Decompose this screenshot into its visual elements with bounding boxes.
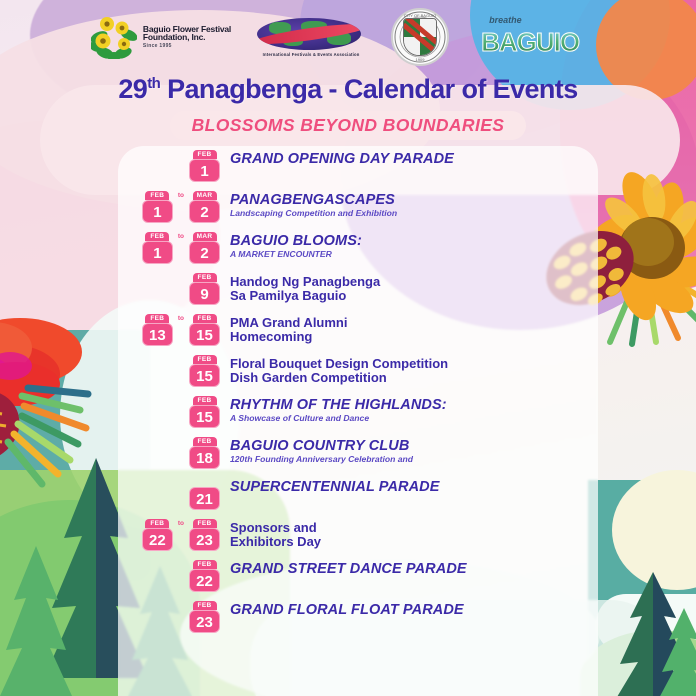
date-badge-day: 15: [189, 323, 220, 346]
event-row: FEB1toMAR2BAGUIO BLOOMS:A MARKET ENCOUNT…: [118, 232, 596, 266]
date-range-connector: to: [178, 233, 184, 240]
date-badge-day: 9: [189, 282, 220, 305]
date-badge-single: FEB15: [189, 396, 220, 428]
event-subtitle: 120th Founding Anniversary Celebration a…: [230, 455, 596, 465]
date-badge-month: FEB: [193, 560, 217, 569]
event-title: RHYTHM OF THE HIGHLANDS:: [230, 398, 596, 413]
date-badge-single: FEB22: [189, 560, 220, 592]
event-subtitle: A Showcase of Culture and Dance: [230, 414, 596, 424]
date-badge-start: FEB1: [142, 232, 173, 264]
date-badge-end: FEB15: [189, 314, 220, 346]
event-text: GRAND OPENING DAY PARADE: [230, 150, 596, 167]
event-row: FEB18BAGUIO COUNTRY CLUB120th Founding A…: [118, 437, 596, 471]
event-row: FEB15Floral Bouquet Design CompetitionDi…: [118, 355, 596, 389]
event-title: PANAGBENGASCAPES: [230, 193, 596, 208]
event-title-line2: Sa Pamilya Baguio: [230, 289, 596, 303]
event-title: GRAND STREET DANCE PARADE: [230, 562, 596, 577]
date-badge-single: FEB21: [189, 478, 220, 510]
date-badge-start: FEB22: [142, 519, 173, 551]
date-badge-day: 15: [189, 364, 220, 387]
event-date-group: FEB1toMAR2: [118, 191, 230, 223]
date-badge-single: FEB23: [189, 601, 220, 633]
logo-baguio-word: BAGUIO: [481, 27, 579, 58]
title-ordinal: th: [147, 75, 160, 92]
date-badge-month: FEB: [193, 355, 217, 364]
date-badge-day: 22: [189, 569, 220, 592]
event-date-group: FEB22: [118, 560, 230, 592]
date-range-connector: to: [178, 315, 184, 322]
date-badge-day: 23: [189, 528, 220, 551]
date-badge-month: FEB: [145, 519, 169, 528]
event-date-group: FEB9: [118, 273, 230, 305]
date-badge-single: FEB9: [189, 273, 220, 305]
date-badge-start: FEB1: [142, 191, 173, 223]
date-badge-single: FEB15: [189, 355, 220, 387]
date-badge-day: 2: [189, 200, 220, 223]
event-row: FEB23GRAND FLORAL FLOAT PARADE: [118, 601, 596, 635]
event-title: GRAND OPENING DAY PARADE: [230, 152, 596, 167]
red-flower-decoration: [0, 318, 130, 468]
event-subtitle: A MARKET ENCOUNTER: [230, 250, 596, 260]
logo-breathe-word: breathe: [489, 15, 522, 25]
event-date-group: FEB1toMAR2: [118, 232, 230, 264]
date-badge-month: FEB: [193, 519, 217, 528]
event-text: GRAND STREET DANCE PARADE: [230, 560, 596, 577]
date-badge-month: FEB: [145, 232, 169, 241]
event-date-group: FEB23: [118, 601, 230, 633]
event-row: FEB1toMAR2PANAGBENGASCAPESLandscaping Co…: [118, 191, 596, 225]
event-row: FEB13toFEB15PMA Grand AlumniHomecoming: [118, 314, 596, 348]
pine-tree-icon: [654, 604, 696, 696]
date-badge-single: FEB18: [189, 437, 220, 469]
date-badge-month: FEB: [193, 478, 217, 487]
date-badge-start: FEB13: [142, 314, 173, 346]
event-title: BAGUIO BLOOMS:: [230, 234, 596, 249]
event-title: Sponsors and: [230, 521, 596, 535]
logo-ifea-caption: International Festivals & Events Associa…: [257, 52, 365, 57]
event-title: SUPERCENTENNIAL PARADE: [230, 480, 596, 495]
event-row: FEB22GRAND STREET DANCE PARADE: [118, 560, 596, 594]
logo-bffi-since: Since 1995: [143, 44, 231, 49]
event-row: FEB9Handog Ng PanagbengaSa Pamilya Bagui…: [118, 273, 596, 307]
event-date-group: FEB13toFEB15: [118, 314, 230, 346]
date-badge-month: FEB: [193, 437, 217, 446]
logo-row: Baguio Flower Festival Foundation, Inc. …: [0, 6, 696, 68]
event-date-group: FEB15: [118, 355, 230, 387]
date-badge-month: FEB: [193, 601, 217, 610]
logo-baguio-flower-festival-foundation: Baguio Flower Festival Foundation, Inc. …: [91, 15, 231, 59]
date-badge-day: 15: [189, 405, 220, 428]
title-main: Panagbenga - Calendar of Events: [160, 74, 577, 104]
event-title: BAGUIO COUNTRY CLUB: [230, 439, 596, 454]
date-badge-month: MAR: [193, 232, 217, 241]
event-text: RHYTHM OF THE HIGHLANDS:A Showcase of Cu…: [230, 396, 596, 424]
date-badge-day: 1: [189, 159, 220, 182]
date-badge-end: MAR2: [189, 232, 220, 264]
event-text: GRAND FLORAL FLOAT PARADE: [230, 601, 596, 618]
event-title-line2: Exhibitors Day: [230, 535, 596, 549]
seal-shield-icon: [403, 18, 437, 56]
event-date-group: FEB15: [118, 396, 230, 428]
logo-ifea: International Festivals & Events Associa…: [257, 18, 365, 57]
event-title-line2: Dish Garden Competition: [230, 371, 596, 385]
date-badge-month: FEB: [193, 273, 217, 282]
event-text: PANAGBENGASCAPESLandscaping Competition …: [230, 191, 596, 219]
event-text: Floral Bouquet Design CompetitionDish Ga…: [230, 355, 596, 385]
logo-city-of-baguio-seal: CITY OF BAGUIO 1909: [391, 8, 449, 66]
event-subtitle: Landscaping Competition and Exhibition: [230, 209, 596, 219]
event-text: Sponsors andExhibitors Day: [230, 519, 596, 549]
date-range-connector: to: [178, 192, 184, 199]
event-row: FEB22toFEB23Sponsors andExhibitors Day: [118, 519, 596, 553]
date-badge-day: 13: [142, 323, 173, 346]
event-date-group: FEB18: [118, 437, 230, 469]
ifea-globe-icon: [257, 18, 361, 50]
event-date-group: FEB21: [118, 478, 230, 510]
events-list: FEB1GRAND OPENING DAY PARADEFEB1toMAR2PA…: [118, 150, 596, 642]
event-title: Handog Ng Panagbenga: [230, 275, 596, 289]
logo-bffi-line2: Foundation, Inc.: [143, 33, 231, 42]
date-badge-month: FEB: [145, 191, 169, 200]
event-title: GRAND FLORAL FLOAT PARADE: [230, 603, 596, 618]
event-title: Floral Bouquet Design Competition: [230, 357, 596, 371]
event-row: FEB15RHYTHM OF THE HIGHLANDS:A Showcase …: [118, 396, 596, 430]
date-badge-day: 21: [189, 487, 220, 510]
date-badge-month: FEB: [193, 396, 217, 405]
date-badge-day: 2: [189, 241, 220, 264]
event-row: FEB21SUPERCENTENNIAL PARADE: [118, 478, 596, 512]
page-title: 29th Panagbenga - Calendar of Events: [0, 74, 696, 105]
date-badge-single: FEB1: [189, 150, 220, 182]
date-range-connector: to: [178, 520, 184, 527]
event-date-group: FEB22toFEB23: [118, 519, 230, 551]
event-title: PMA Grand Alumni: [230, 316, 596, 330]
svg-text:1909: 1909: [416, 57, 426, 62]
event-text: BAGUIO COUNTRY CLUB120th Founding Annive…: [230, 437, 596, 465]
panagbenga-calendar-poster: Baguio Flower Festival Foundation, Inc. …: [0, 0, 696, 696]
subtitle-pill: BLOSSOMS BEYOND BOUNDARIES: [170, 111, 527, 140]
event-text: BAGUIO BLOOMS:A MARKET ENCOUNTER: [230, 232, 596, 260]
date-badge-day: 23: [189, 610, 220, 633]
event-title-line2: Homecoming: [230, 330, 596, 344]
page-subtitle: BLOSSOMS BEYOND BOUNDARIES: [192, 115, 505, 135]
date-badge-month: FEB: [145, 314, 169, 323]
logo-breathe-baguio: breathe BAGUIO: [475, 13, 605, 61]
title-block: 29th Panagbenga - Calendar of Events BLO…: [0, 74, 696, 140]
sunflower-logo-icon: [91, 15, 137, 59]
title-edition: 29: [118, 74, 147, 104]
event-text: PMA Grand AlumniHomecoming: [230, 314, 596, 344]
date-badge-month: FEB: [193, 150, 217, 159]
date-badge-day: 1: [142, 200, 173, 223]
event-row: FEB1GRAND OPENING DAY PARADE: [118, 150, 596, 184]
date-badge-day: 22: [142, 528, 173, 551]
pine-tree-icon: [0, 540, 76, 696]
date-badge-month: MAR: [193, 191, 217, 200]
event-text: SUPERCENTENNIAL PARADE: [230, 478, 596, 495]
date-badge-end: MAR2: [189, 191, 220, 223]
date-badge-day: 18: [189, 446, 220, 469]
date-badge-month: FEB: [193, 314, 217, 323]
date-badge-end: FEB23: [189, 519, 220, 551]
date-badge-day: 1: [142, 241, 173, 264]
event-date-group: FEB1: [118, 150, 230, 182]
event-text: Handog Ng PanagbengaSa Pamilya Baguio: [230, 273, 596, 303]
